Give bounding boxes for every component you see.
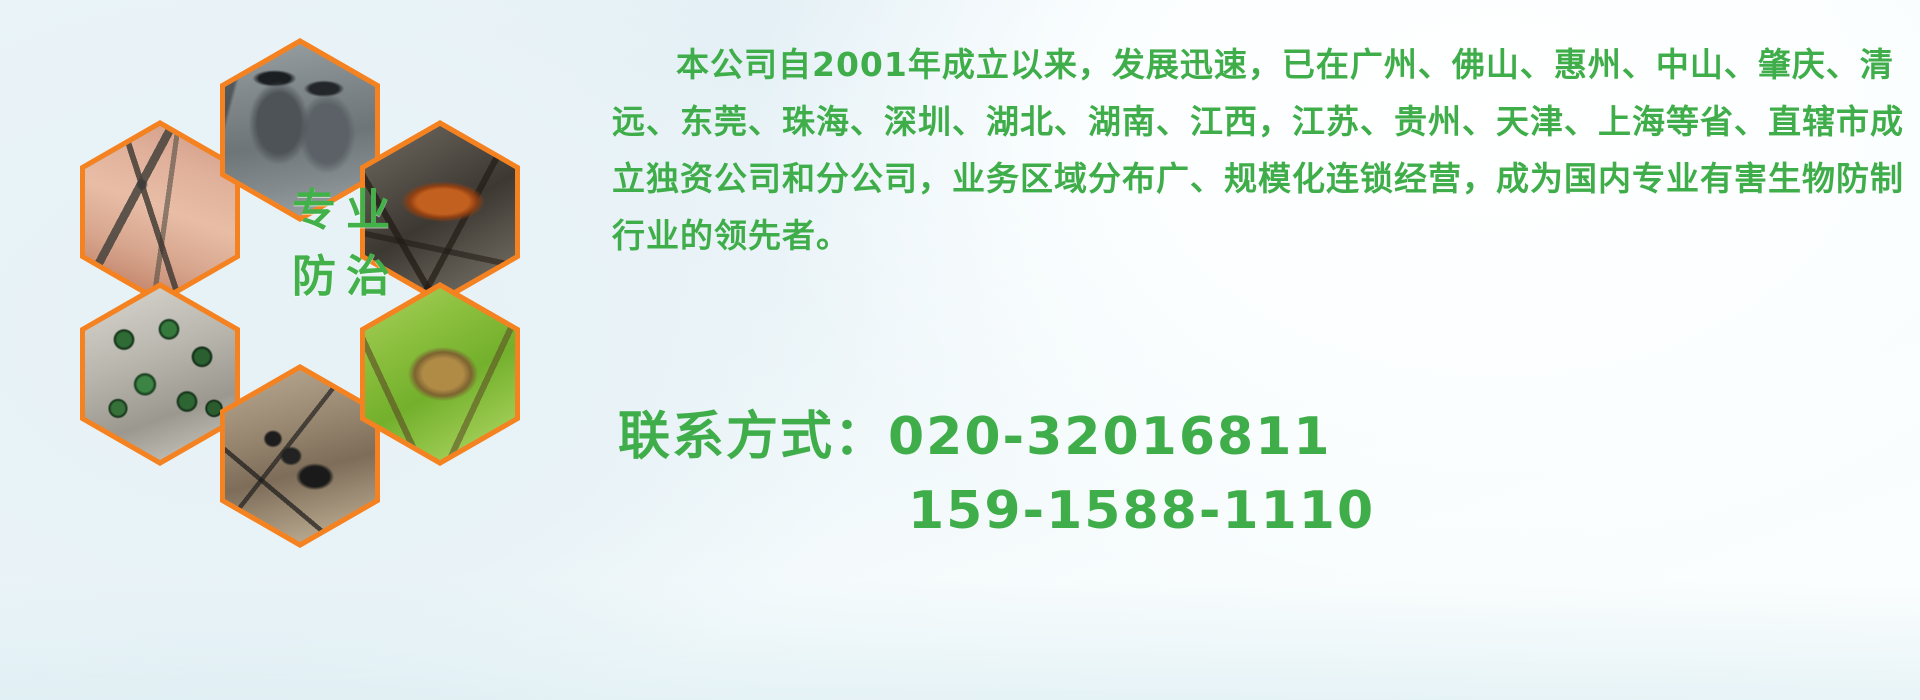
hex-inner	[365, 288, 515, 460]
contact-block: 联系方式：020-32016811 159-1588-1110	[618, 400, 1912, 548]
contact-primary-phone: 联系方式：020-32016811	[618, 400, 1912, 474]
ant-photo	[225, 370, 375, 542]
contact-secondary-phone: 159-1588-1110	[618, 474, 1912, 548]
specialty-badge-line2: 防治	[276, 244, 416, 310]
hex-inner	[225, 370, 375, 542]
hex-tile-ant	[220, 364, 380, 548]
stinkbug-photo	[365, 288, 515, 460]
hex-photo-collage: 专业 防治	[80, 10, 600, 570]
specialty-badge-line1: 专业	[276, 178, 416, 244]
specialty-badge: 专业 防治	[276, 178, 416, 310]
hex-tile-mosquito	[80, 120, 240, 304]
company-description-text: 本公司自2001年成立以来，发展迅速，已在广州、佛山、惠州、中山、肇庆、清远、东…	[612, 36, 1906, 264]
company-description: 本公司自2001年成立以来，发展迅速，已在广州、佛山、惠州、中山、肇庆、清远、东…	[612, 36, 1906, 264]
mosquito-photo	[85, 126, 235, 298]
hex-inner	[85, 288, 235, 460]
hex-inner	[85, 126, 235, 298]
hex-tile-flies	[80, 282, 240, 466]
promo-banner: 专业 防治 本公司自2001年成立以来，发展迅速，已在广州、佛山、惠州、中山、肇…	[0, 0, 1920, 700]
flies-photo	[85, 288, 235, 460]
